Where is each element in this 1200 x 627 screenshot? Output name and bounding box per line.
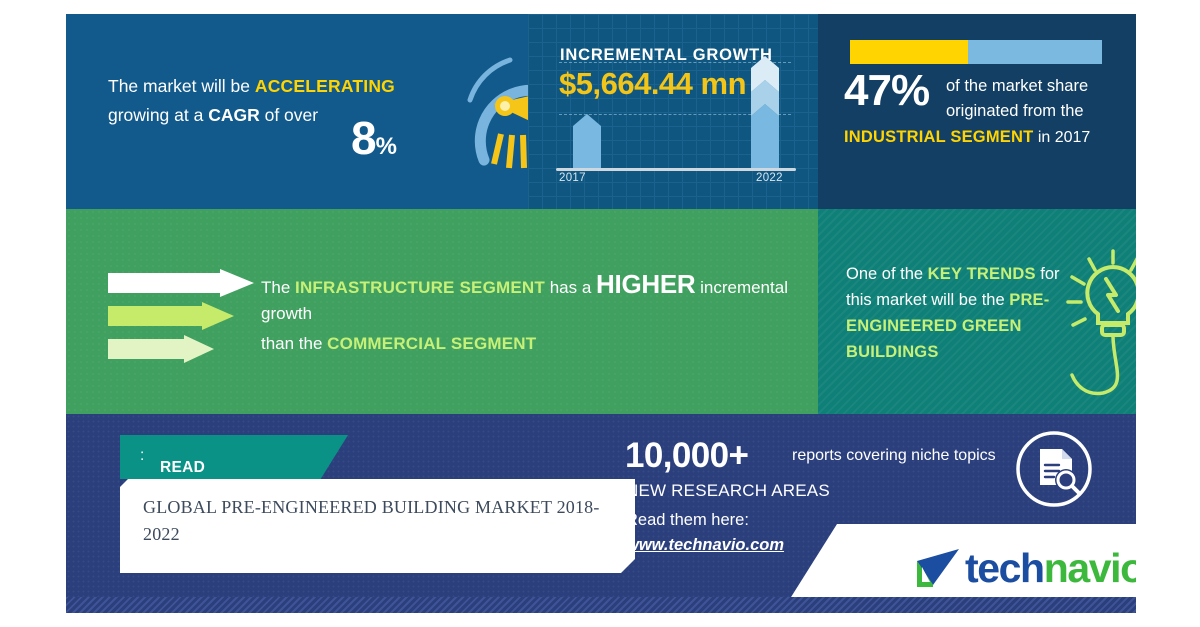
market-share-bar-fill — [850, 40, 968, 64]
incremental-growth-bars — [556, 52, 796, 170]
share-line1: of the market share — [946, 77, 1088, 95]
infrastructure-panel: The INFRASTRUCTURE SEGMENT has a HIGHER … — [66, 209, 818, 414]
white-arrow — [108, 269, 256, 297]
bottom-stripe — [66, 597, 1136, 613]
cagr-number: 8 — [351, 112, 376, 164]
technavio-arrow-icon — [911, 545, 965, 591]
report-title-card[interactable]: GLOBAL PRE-ENGINEERED BUILDING MARKET 20… — [120, 479, 635, 573]
axis-label-2017: 2017 — [559, 172, 586, 184]
top-row: The market will be ACCELERATING growing … — [66, 14, 1136, 209]
read-them-here-label: Read them here: — [626, 511, 749, 530]
infrastructure-segment-highlight: INFRASTRUCTURE SEGMENT — [295, 278, 545, 297]
technavio-wordmark: technavio — [965, 548, 1136, 589]
logo-part-tech: tech — [965, 545, 1044, 591]
industrial-segment-highlight: INDUSTRIAL SEGMENT — [844, 128, 1033, 146]
trend-line4-highlight: BUILDINGS — [846, 343, 939, 361]
cagr-percent-sign: % — [376, 133, 396, 160]
bottom-row: READ THE REPORT: GLOBAL PRE-ENGINEERED B… — [66, 414, 1136, 613]
lightbulb-icon — [1058, 245, 1136, 405]
market-share-description: of the market share originated from the — [946, 74, 1136, 124]
technavio-url-link[interactable]: www.technavio.com — [626, 536, 784, 555]
trend-line1-post: for — [1036, 265, 1060, 283]
infographic-canvas: The market will be ACCELERATING growing … — [66, 14, 1136, 613]
logo-part-navio: navio — [1044, 545, 1136, 591]
bar-2017 — [573, 114, 601, 170]
reports-count: 10,000+ — [625, 436, 748, 476]
trend-line2-pre: this market will be the — [846, 291, 1009, 309]
industrial-segment-year: in 2017 — [1033, 129, 1090, 146]
middle-row: The INFRASTRUCTURE SEGMENT has a HIGHER … — [66, 209, 1136, 414]
trend-line1-pre: One of the — [846, 265, 928, 283]
cagr-line1-pre: The market will be — [108, 76, 255, 96]
new-research-areas-label: NEW RESEARCH AREAS — [626, 481, 830, 501]
incremental-growth-panel: INCREMENTAL GROWTH $5,664.44 mn 2017 202… — [528, 14, 818, 209]
infra-line1-pre: The — [261, 278, 295, 297]
key-trends-panel: One of the KEY TRENDS for this market wi… — [818, 209, 1136, 414]
market-share-percent: 47% — [844, 69, 929, 113]
cagr-accelerating-highlight: ACCELERATING — [255, 76, 395, 96]
chart-axis — [556, 168, 796, 171]
axis-label-2022: 2022 — [756, 172, 783, 184]
technavio-logo[interactable]: technavio — [911, 542, 1136, 594]
infra-line1-mid: has a — [545, 278, 596, 297]
cagr-line2-post: of over — [260, 105, 318, 125]
lime-arrow — [108, 302, 236, 330]
infra-line2-pre: than the — [261, 334, 327, 353]
cagr-bold-label: CAGR — [208, 105, 260, 125]
bottom-row-content: READ THE REPORT: GLOBAL PRE-ENGINEERED B… — [66, 414, 1136, 613]
reports-count-suffix: reports covering niche topics — [792, 447, 996, 465]
read-the-report-banner[interactable]: READ THE REPORT: — [120, 435, 348, 479]
market-share-panel: 47% of the market share originated from … — [818, 14, 1136, 209]
key-trends-highlight: KEY TRENDS — [928, 265, 1036, 283]
share-line2: originated from the — [946, 102, 1084, 120]
trend-pre-highlight: PRE- — [1009, 291, 1049, 309]
cagr-panel: The market will be ACCELERATING growing … — [66, 14, 528, 209]
trend-line3-highlight: ENGINEERED GREEN — [846, 317, 1022, 335]
commercial-segment-highlight: COMMERCIAL SEGMENT — [327, 334, 536, 353]
document-search-icon — [1014, 429, 1094, 509]
cagr-line2-pre: growing at a — [108, 105, 208, 125]
infrastructure-higher-word: HIGHER — [596, 269, 695, 299]
read-the-report-label: READ THE REPORT: — [140, 447, 145, 465]
cagr-value: 8% — [351, 115, 396, 170]
pale-arrow — [108, 335, 216, 363]
infrastructure-statement-line1: The INFRASTRUCTURE SEGMENT has a HIGHER … — [261, 271, 806, 327]
infrastructure-statement-line2: than the COMMERCIAL SEGMENT — [261, 331, 806, 357]
market-share-bar — [850, 40, 1102, 64]
market-share-segment-line: INDUSTRIAL SEGMENT in 2017 — [844, 126, 1136, 149]
report-title: GLOBAL PRE-ENGINEERED BUILDING MARKET 20… — [143, 494, 613, 548]
